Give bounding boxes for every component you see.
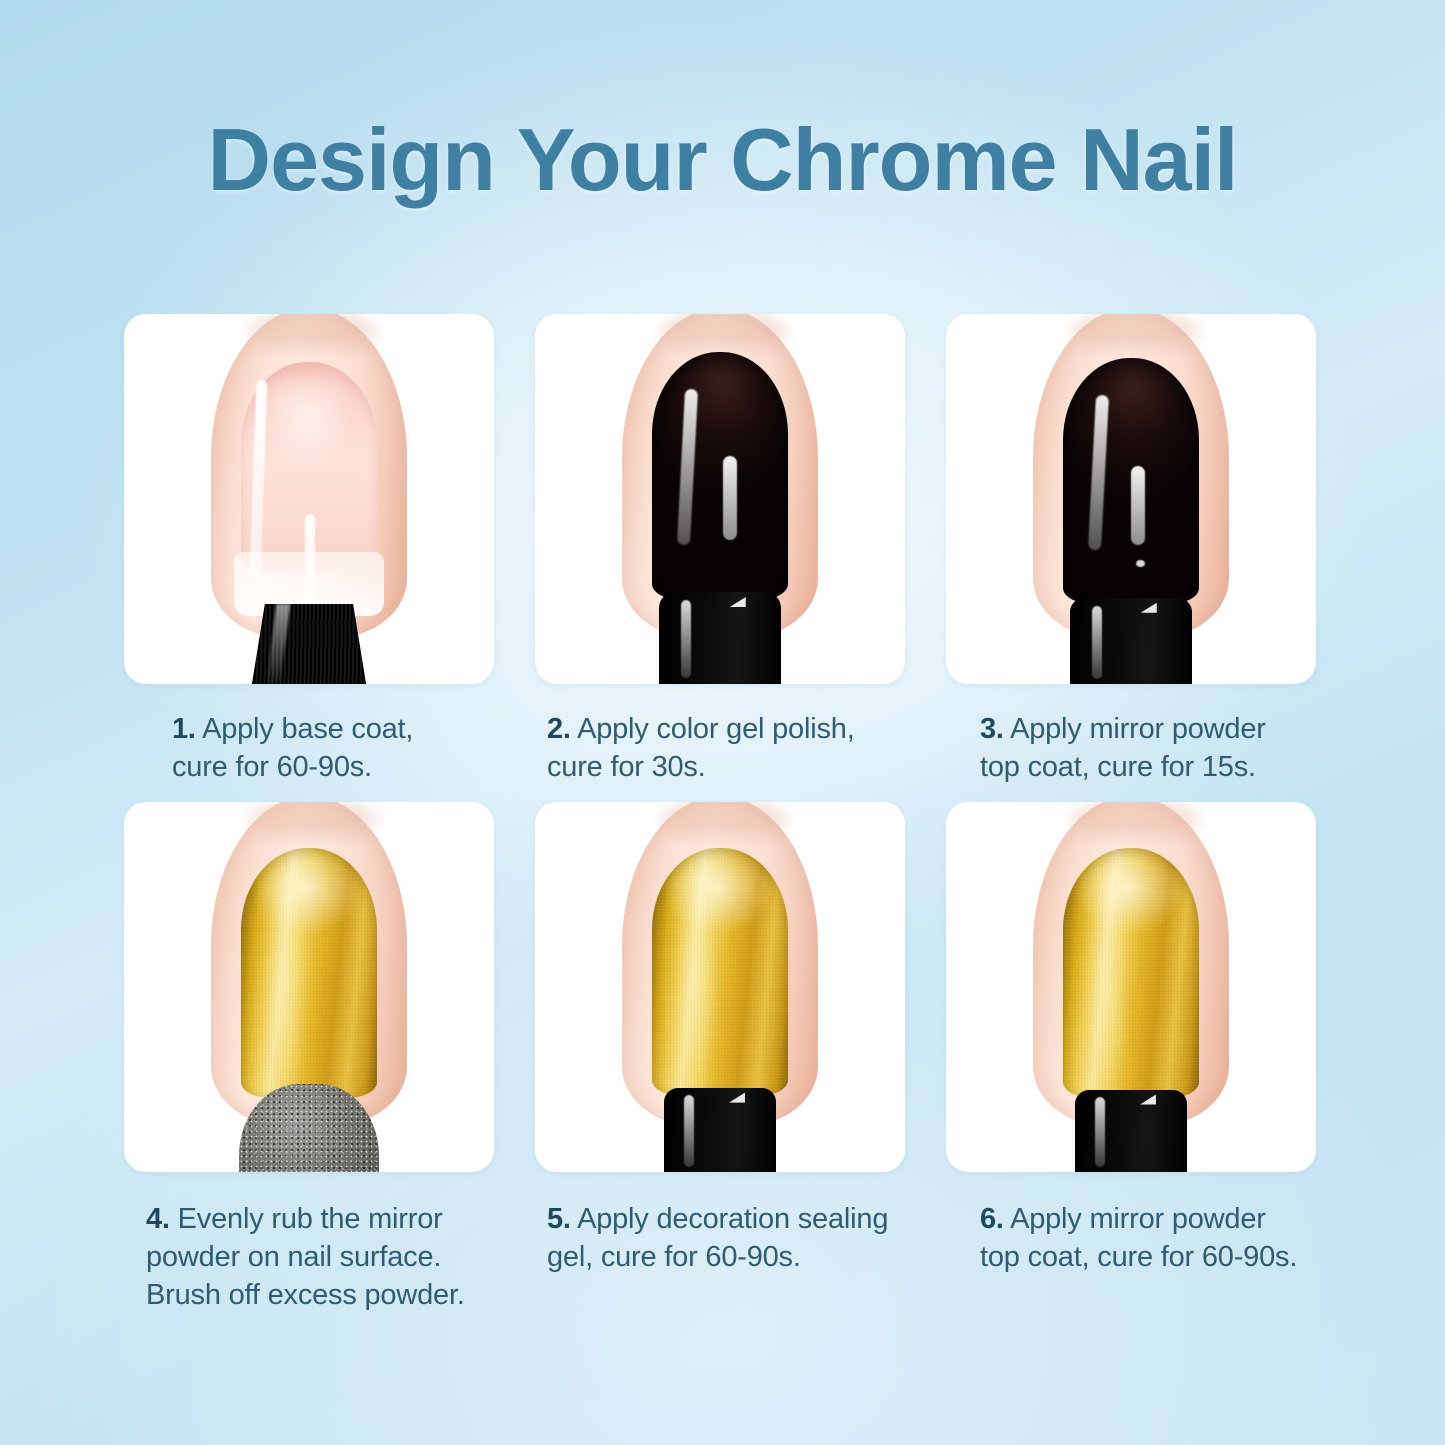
step-card-5: 5. Apply decoration sealing gel, cure fo…: [535, 802, 905, 1314]
step-text-3-line1: Apply mirror powder: [1010, 713, 1266, 745]
page-title: Design Your Chrome Nail: [0, 112, 1445, 208]
poster-root: Design Your Chrome Nail: [0, 0, 1445, 1445]
mirror-topcoat-nail: [1063, 358, 1199, 604]
gold-chrome-nail: [241, 848, 377, 1098]
step-number-5: 5.: [547, 1203, 571, 1235]
step-number-3: 3.: [980, 713, 1004, 745]
step-caption-6: 6. Apply mirror powder top coat, cure fo…: [946, 1200, 1316, 1276]
step-number-1: 1.: [172, 713, 196, 745]
step-image-5: [535, 802, 905, 1172]
step-image-4: [124, 802, 494, 1172]
bristle-brush-icon: [251, 604, 367, 684]
steps-grid: 1. Apply base coat, cure for 60-90s.: [124, 314, 1322, 1314]
step-image-1: [124, 314, 494, 684]
black-gel-nail: [652, 352, 788, 600]
step-card-3: 3. Apply mirror powder top coat, cure fo…: [946, 314, 1316, 786]
step-text-4-line3: Brush off excess powder.: [146, 1279, 465, 1311]
step-number-6: 6.: [980, 1203, 1004, 1235]
step-caption-3: 3. Apply mirror powder top coat, cure fo…: [946, 710, 1316, 786]
step-number-4: 4.: [146, 1203, 170, 1235]
gel-brush-icon: [1070, 598, 1192, 684]
step-caption-1: 1. Apply base coat, cure for 60-90s.: [124, 710, 494, 786]
step-text-2-line1: Apply color gel polish,: [577, 713, 855, 745]
step-text-5-line2: gel, cure for 60-90s.: [547, 1241, 801, 1273]
step-text-1-line1: Apply base coat,: [202, 713, 413, 745]
step-card-1: 1. Apply base coat, cure for 60-90s.: [124, 314, 494, 786]
step-caption-2: 2. Apply color gel polish, cure for 30s.: [535, 710, 905, 786]
step-number-2: 2.: [547, 713, 571, 745]
step-image-3: [946, 314, 1316, 684]
step-text-2-line2: cure for 30s.: [547, 751, 706, 783]
step-image-2: [535, 314, 905, 684]
step-text-5-line1: Apply decoration sealing: [577, 1203, 888, 1235]
step-text-6-line1: Apply mirror powder: [1010, 1203, 1266, 1235]
gold-chrome-nail: [652, 848, 788, 1096]
step-card-2: 2. Apply color gel polish, cure for 30s.: [535, 314, 905, 786]
step-caption-4: 4. Evenly rub the mirror powder on nail …: [124, 1200, 494, 1314]
step-card-4: 4. Evenly rub the mirror powder on nail …: [124, 802, 494, 1314]
step-text-1-line2: cure for 60-90s.: [172, 751, 372, 783]
step-card-6: 6. Apply mirror powder top coat, cure fo…: [946, 802, 1316, 1314]
step-text-6-line2: top coat, cure for 60-90s.: [980, 1241, 1297, 1273]
gel-brush-icon: [1075, 1090, 1187, 1172]
step-text-4-line2: powder on nail surface.: [146, 1241, 441, 1273]
step-text-3-line2: top coat, cure for 15s.: [980, 751, 1256, 783]
gold-chrome-nail: [1063, 848, 1199, 1098]
gel-brush-icon: [659, 592, 781, 684]
step-caption-5: 5. Apply decoration sealing gel, cure fo…: [535, 1200, 905, 1276]
gel-brush-icon: [664, 1088, 776, 1172]
step-text-4-line1: Evenly rub the mirror: [178, 1203, 443, 1235]
step-image-6: [946, 802, 1316, 1172]
